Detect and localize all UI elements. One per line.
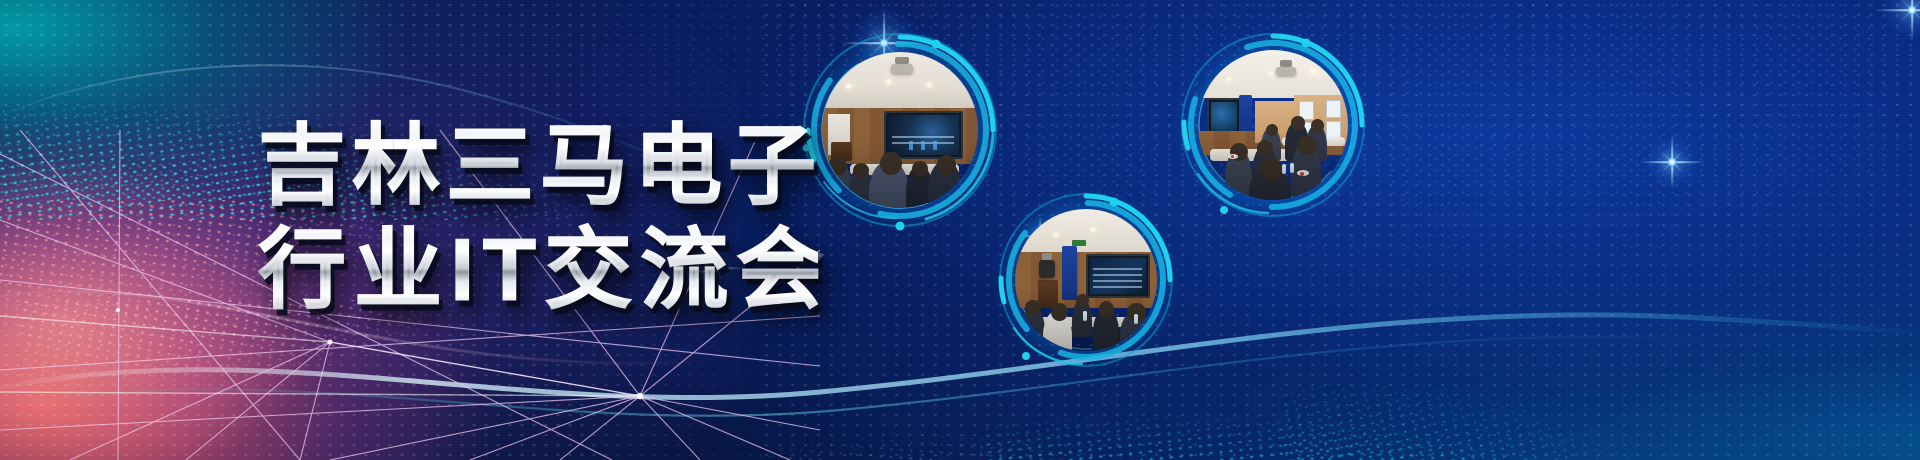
headline-block: 吉林三马电子 行业IT交流会 [258, 118, 818, 318]
banner-root: 吉林三马电子 行业IT交流会 [0, 0, 1920, 460]
photo-disc [822, 52, 978, 208]
photo-presentation-lecture[interactable] [800, 30, 1000, 230]
headline-line-1: 吉林三马电子 [258, 118, 818, 214]
photo-disc [1015, 209, 1157, 351]
photo-seminar-speaker[interactable] [996, 190, 1176, 370]
photo-disc [1198, 50, 1348, 200]
headline-line-2: 行业IT交流会 [258, 222, 818, 318]
photo-meeting-room-audience[interactable] [1178, 30, 1368, 220]
